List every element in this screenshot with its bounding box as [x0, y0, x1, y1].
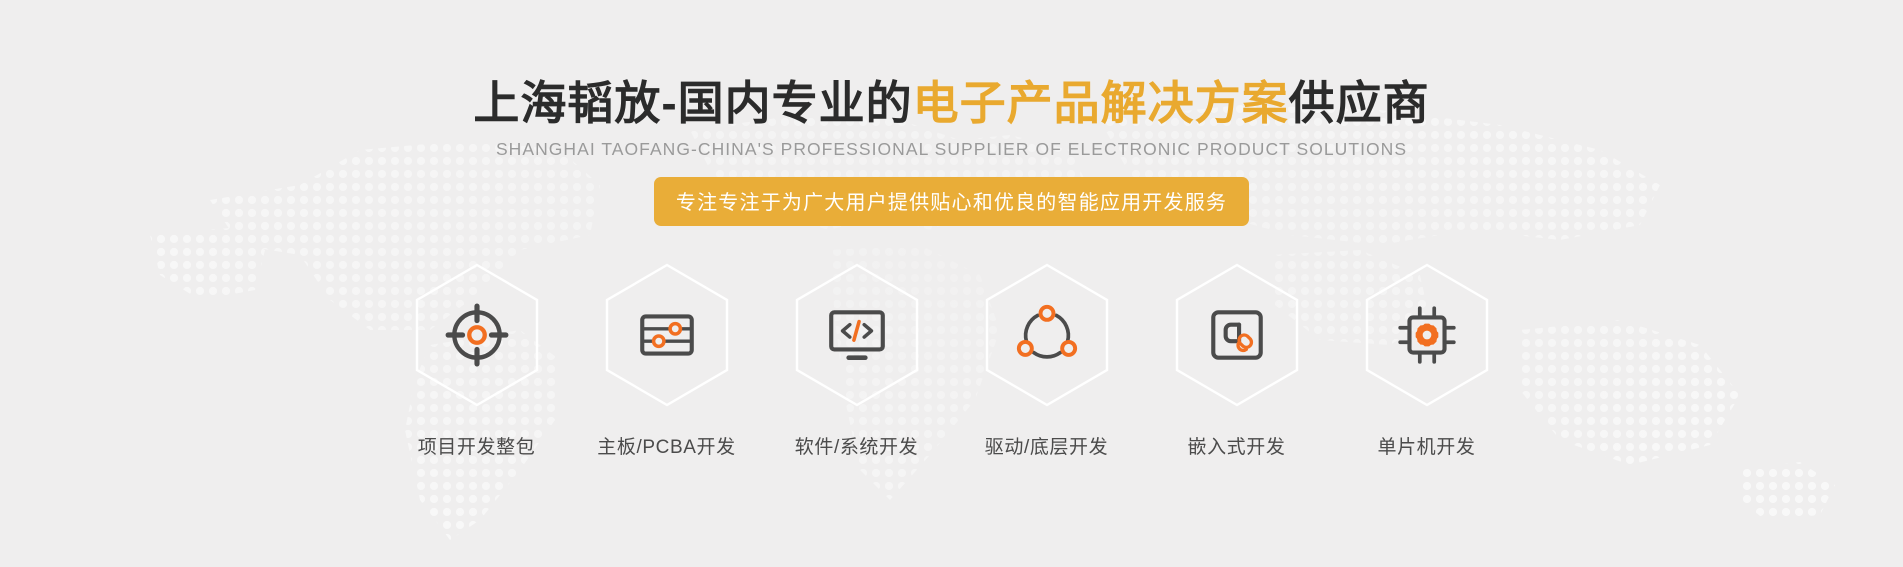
service-item-driver-lowlevel[interactable]: 驱动/底层开发	[952, 262, 1142, 459]
page-title: 上海韬放-国内专业的电子产品解决方案供应商	[0, 78, 1903, 130]
headline-tail: 供应商	[1289, 77, 1430, 129]
tagline-badge: 专注专注于为广大用户提供贴心和优良的智能应用开发服务	[654, 177, 1249, 226]
service-label: 单片机开发	[1377, 432, 1475, 459]
service-label: 软件/系统开发	[795, 432, 918, 459]
hexagon-frame	[413, 262, 541, 408]
network-nodes-icon	[1014, 302, 1080, 368]
service-item-pcba[interactable]: 主板/PCBA开发	[572, 262, 762, 459]
service-item-project-package[interactable]: 项目开发整包	[382, 262, 572, 459]
service-label: 嵌入式开发	[1187, 432, 1285, 459]
hexagon-frame	[1363, 262, 1491, 408]
hexagon-frame	[1173, 262, 1301, 408]
embedded-chip-link-icon	[1204, 302, 1270, 368]
service-item-software-system[interactable]: 软件/系统开发	[762, 262, 952, 459]
monitor-code-icon	[824, 302, 890, 368]
headline-lead: 上海韬放-国内专业的	[473, 77, 912, 129]
service-label: 项目开发整包	[418, 432, 536, 459]
hexagon-frame	[793, 262, 921, 408]
tagline-badge-wrapper: 专注专注于为广大用户提供贴心和优良的智能应用开发服务	[0, 177, 1903, 226]
service-list: 项目开发整包 主板/PCBA开发	[382, 262, 1522, 459]
service-item-mcu[interactable]: 单片机开发	[1332, 262, 1522, 459]
hexagon-frame	[603, 262, 731, 408]
hero-text-block: 上海韬放-国内专业的电子产品解决方案供应商 SHANGHAI TAOFANG-C…	[0, 78, 1903, 226]
microcontroller-gear-icon	[1394, 302, 1460, 368]
headline-accent: 电子产品解决方案	[913, 77, 1289, 129]
hexagon-frame	[983, 262, 1111, 408]
circuit-board-icon	[634, 302, 700, 368]
crosshair-target-icon	[444, 302, 510, 368]
service-item-embedded[interactable]: 嵌入式开发	[1142, 262, 1332, 459]
service-label: 驱动/底层开发	[985, 432, 1108, 459]
service-label: 主板/PCBA开发	[597, 432, 735, 459]
page-subtitle: SHANGHAI TAOFANG-CHINA'S PROFESSIONAL SU…	[0, 139, 1903, 160]
hero-banner: 上海韬放-国内专业的电子产品解决方案供应商 SHANGHAI TAOFANG-C…	[0, 0, 1903, 567]
